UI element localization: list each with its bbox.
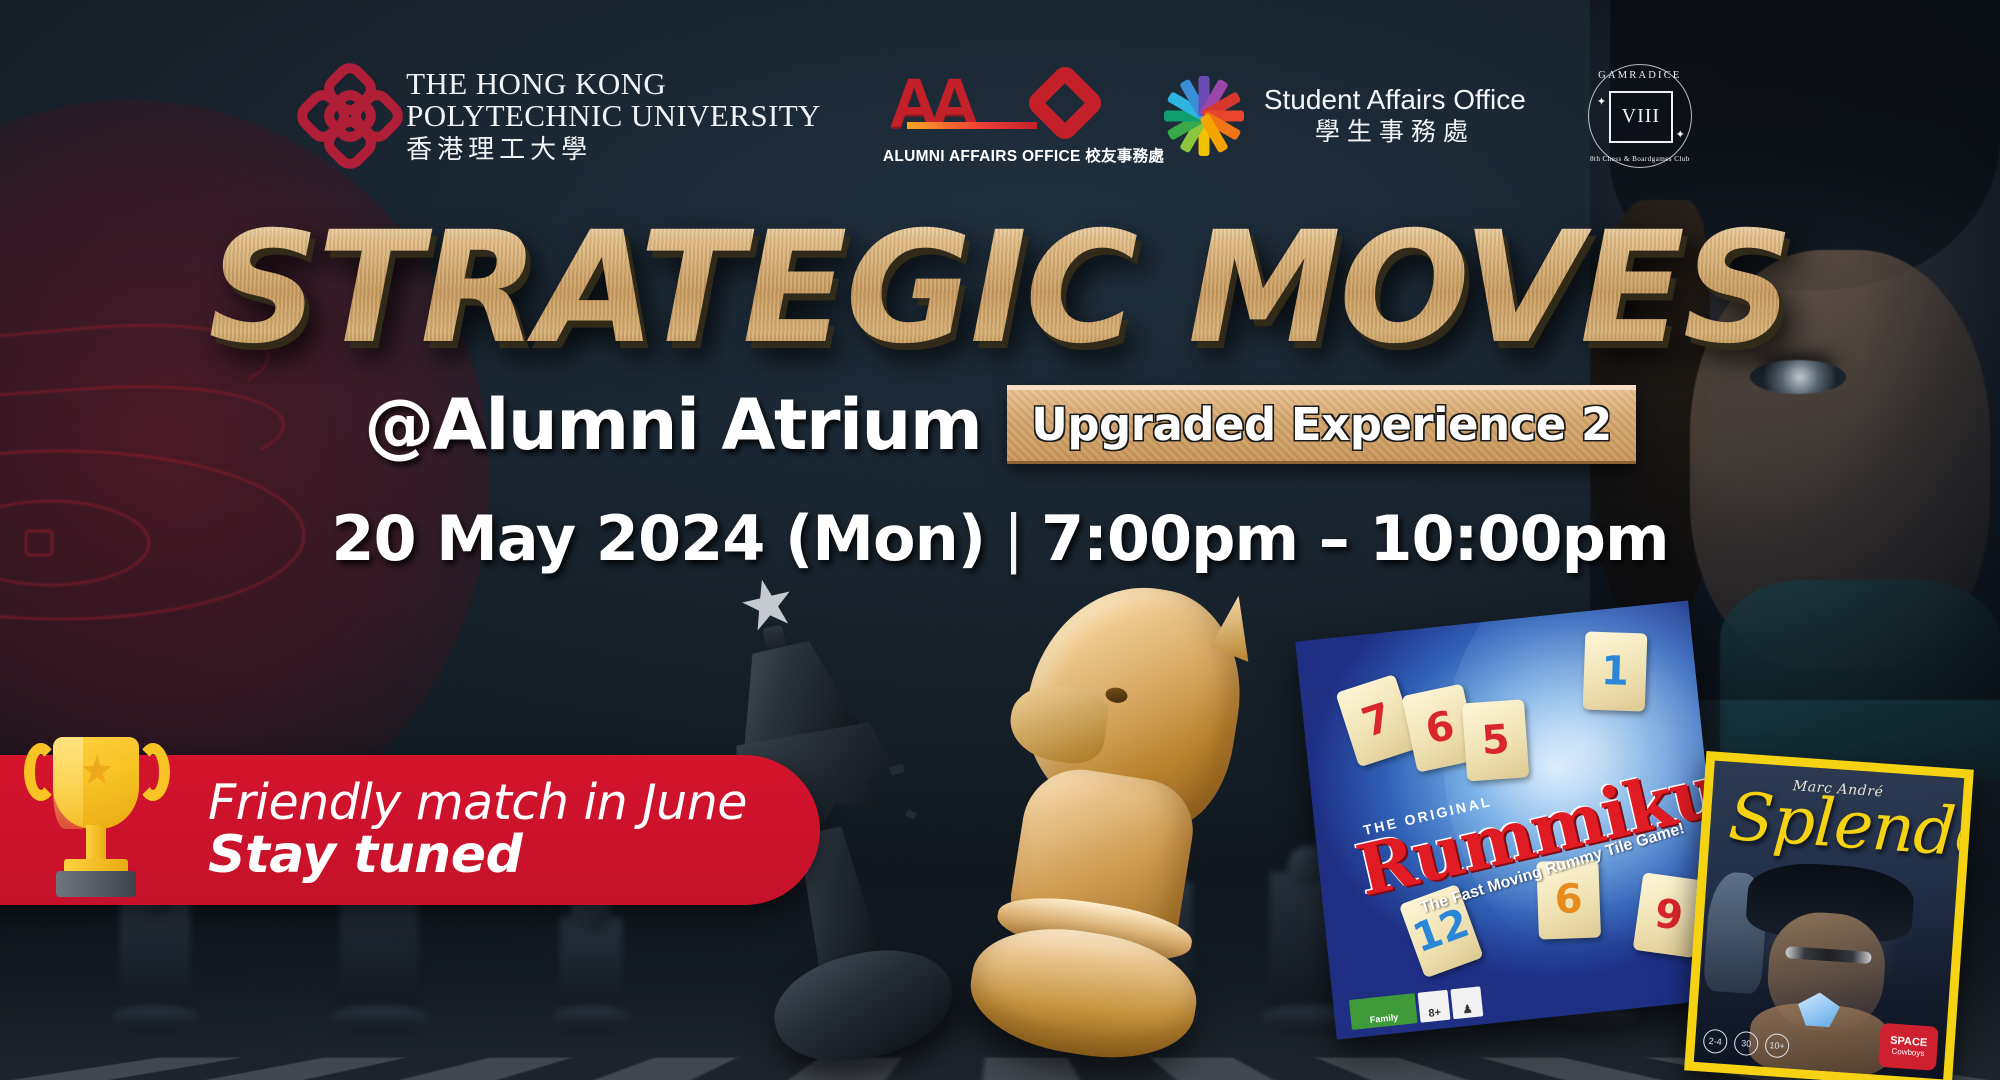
logo-aao: AA ALUMNI AFFAIRS OFFICE 校友事務處 — [883, 66, 1098, 166]
splendor-info-icons: 2-4 30 10+ — [1702, 1029, 1789, 1059]
polyu-knot-icon — [291, 56, 410, 175]
badge-label: Upgraded Experience 2 — [1031, 402, 1611, 447]
logo-sao: Student Affairs Office 學生事務處 — [1160, 72, 1526, 160]
banner-text: Friendly match in June Stay tuned — [208, 777, 747, 883]
sao-line-1: Student Affairs Office — [1264, 83, 1526, 117]
rummikub-players-badge: ♟ — [1450, 986, 1483, 1019]
poster-canvas: THE HONG KONG POLYTECHNIC UNIVERSITY 香港理… — [0, 0, 2000, 1080]
trophy-highlight — [53, 737, 83, 829]
sao-wordmark: Student Affairs Office 學生事務處 — [1264, 83, 1526, 148]
datetime-separator: | — [1003, 508, 1023, 570]
rummikub-age-badge: 8+ — [1418, 990, 1451, 1023]
hkpu-line-3: 香港理工大學 — [406, 136, 821, 163]
venue-label: @Alumni Atrium — [364, 390, 981, 460]
splendor-title: Splendor — [1727, 784, 1974, 870]
event-date: 20 May 2024 (Mon) — [331, 502, 985, 575]
banner-line-2: Stay tuned — [208, 828, 747, 883]
duration-icon: 30 — [1733, 1031, 1759, 1057]
gamradice-emblem-icon: GAMRADICE VIII 8th Chess & Boardgames Cl… — [1588, 64, 1692, 168]
gold-knight-piece — [955, 568, 1275, 1071]
event-time: 7:00pm – 10:00pm — [1041, 502, 1669, 575]
rummikub-box: 7 6 5 1 12 6 9 THE ORIGINAL Rummikub The… — [1295, 600, 1730, 1039]
datetime-row: 20 May 2024 (Mon)|7:00pm – 10:00pm — [0, 508, 2000, 570]
trophy-stem — [86, 825, 106, 863]
logo-hkpu: THE HONG KONG POLYTECHNIC UNIVERSITY 香港理… — [308, 68, 821, 163]
banner-line-1: Friendly match in June — [208, 777, 747, 828]
aao-gradient-streak — [907, 122, 1037, 129]
aao-caption: ALUMNI AFFAIRS OFFICE 校友事務處 — [883, 144, 1098, 166]
hkpu-line-2: POLYTECHNIC UNIVERSITY — [406, 100, 821, 132]
splendor-box: Marc André Splendor 2-4 30 10+ SPACE Cow… — [1684, 751, 1974, 1080]
rummikub-tile: 5 — [1462, 699, 1529, 781]
rummikub-tile: 1 — [1583, 631, 1648, 711]
partner-logo-row: THE HONG KONG POLYTECHNIC UNIVERSITY 香港理… — [0, 58, 2000, 173]
gamradice-ring-bottom: 8th Chess & Boardgames Club — [1589, 155, 1691, 163]
gamradice-sparkle-icon: ✦ — [1676, 128, 1685, 141]
gamradice-ring-top: GAMRADICE — [1589, 70, 1691, 81]
hkpu-line-1: THE HONG KONG — [406, 68, 821, 100]
publisher-subname: Cowboys — [1891, 1047, 1924, 1058]
trophy-base — [56, 871, 136, 897]
status-badge: Upgraded Experience 2 — [1007, 385, 1635, 464]
knight-muzzle — [1005, 680, 1111, 768]
space-cowboys-logo: SPACE Cowboys — [1878, 1023, 1939, 1071]
pawn-base — [554, 1006, 628, 1032]
pawn-base — [113, 1006, 197, 1032]
sao-line-2: 學生事務處 — [1264, 117, 1526, 148]
sao-starburst-icon — [1160, 72, 1248, 160]
trophy-handle-right — [136, 743, 170, 801]
age-icon: 10+ — [1764, 1033, 1790, 1059]
announcement-banner: Friendly match in June Stay tuned — [0, 755, 820, 905]
gamradice-cube: VIII — [1609, 91, 1673, 143]
pawn-base — [332, 1006, 426, 1032]
trophy-icon — [26, 729, 176, 899]
rummikub-badges: Family 8+ ♟ — [1349, 986, 1483, 1030]
hkpu-wordmark: THE HONG KONG POLYTECHNIC UNIVERSITY 香港理… — [406, 68, 821, 163]
players-icon: 2-4 — [1702, 1029, 1728, 1055]
page-title: STRATEGIC MOVES — [0, 212, 2000, 366]
venue-row: @Alumni Atrium Upgraded Experience 2 — [0, 385, 2000, 464]
rummikub-category-badge: Family — [1349, 993, 1418, 1030]
gamradice-sparkle-icon: ✦ — [1597, 95, 1606, 108]
king-base — [764, 935, 963, 1077]
background-pawn — [120, 902, 190, 1022]
background-pawn — [560, 917, 622, 1022]
